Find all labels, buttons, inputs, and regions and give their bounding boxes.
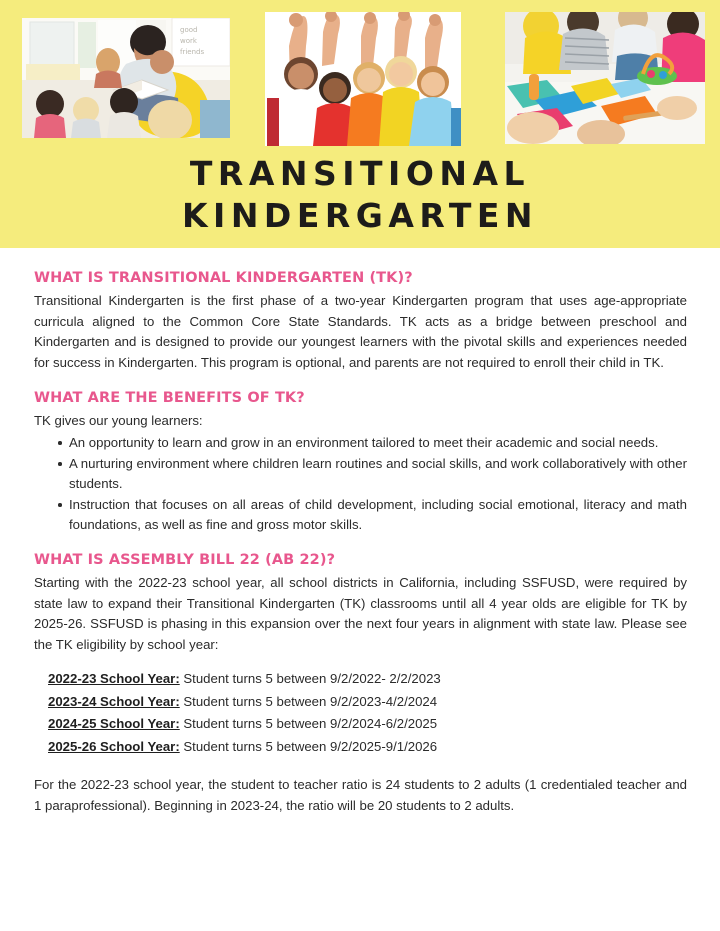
school-year-detail: Student turns 5 between 9/2/2023-4/2/202… — [180, 694, 437, 709]
list-item: 2023-24 School Year: Student turns 5 bet… — [48, 691, 687, 714]
craft-table-illustration — [505, 12, 705, 144]
school-year-label: 2024-25 School Year: — [48, 716, 180, 731]
classroom-reading-photo: good work friends — [22, 18, 230, 138]
list-item: A nurturing environment where children l… — [58, 454, 687, 495]
list-item: Instruction that focuses on all areas of… — [58, 495, 687, 536]
flyer-page: good work friends — [0, 0, 720, 931]
hero-banner: good work friends — [0, 0, 720, 248]
photo-strip: good work friends — [0, 12, 720, 146]
school-year-detail: Student turns 5 between 9/2/2022- 2/2/20… — [180, 671, 441, 686]
list-item: 2022-23 School Year: Student turns 5 bet… — [48, 668, 687, 691]
section-heading-what-is-tk: WHAT IS TRANSITIONAL KINDERGARTEN (TK)? — [34, 270, 687, 286]
paragraph-what-is-tk: Transitional Kindergarten is the first p… — [34, 291, 687, 373]
school-year-label: 2023-24 School Year: — [48, 694, 180, 709]
children-cheering-photo — [265, 12, 461, 146]
benefits-list: An opportunity to learn and grow in an e… — [34, 433, 687, 536]
paragraph-ratio-closing: For the 2022-23 school year, the student… — [34, 775, 687, 816]
list-item: An opportunity to learn and grow in an e… — [58, 433, 687, 454]
classroom-reading-illustration: good work friends — [22, 18, 230, 138]
list-item: 2024-25 School Year: Student turns 5 bet… — [48, 713, 687, 736]
craft-table-photo — [505, 12, 705, 144]
page-title-line-1: TRANSITIONAL — [0, 153, 720, 195]
page-title-line-2: KINDERGARTEN — [0, 195, 720, 237]
list-item: 2025-26 School Year: Student turns 5 bet… — [48, 736, 687, 759]
paragraph-ab22: Starting with the 2022-23 school year, a… — [34, 573, 687, 655]
school-year-detail: Student turns 5 between 9/2/2025-9/1/202… — [180, 739, 437, 754]
section-ab22: WHAT IS ASSEMBLY BILL 22 (AB 22)? Starti… — [34, 552, 687, 817]
section-benefits: WHAT ARE THE BENEFITS OF TK? TK gives ou… — [34, 390, 687, 536]
benefits-intro: TK gives our young learners: — [34, 411, 687, 432]
svg-text:good: good — [180, 26, 197, 34]
svg-text:work: work — [180, 37, 198, 45]
section-heading-ab22: WHAT IS ASSEMBLY BILL 22 (AB 22)? — [34, 552, 687, 568]
flyer-content: WHAT IS TRANSITIONAL KINDERGARTEN (TK)? … — [0, 248, 720, 834]
children-cheering-illustration — [265, 12, 461, 146]
school-year-label: 2025-26 School Year: — [48, 739, 180, 754]
page-title: TRANSITIONAL KINDERGARTEN — [0, 153, 720, 237]
school-year-eligibility-list: 2022-23 School Year: Student turns 5 bet… — [34, 668, 687, 758]
school-year-label: 2022-23 School Year: — [48, 671, 180, 686]
school-year-detail: Student turns 5 between 9/2/2024-6/2/202… — [180, 716, 437, 731]
section-what-is-tk: WHAT IS TRANSITIONAL KINDERGARTEN (TK)? … — [34, 270, 687, 373]
section-heading-benefits: WHAT ARE THE BENEFITS OF TK? — [34, 390, 687, 406]
svg-text:friends: friends — [180, 48, 204, 56]
